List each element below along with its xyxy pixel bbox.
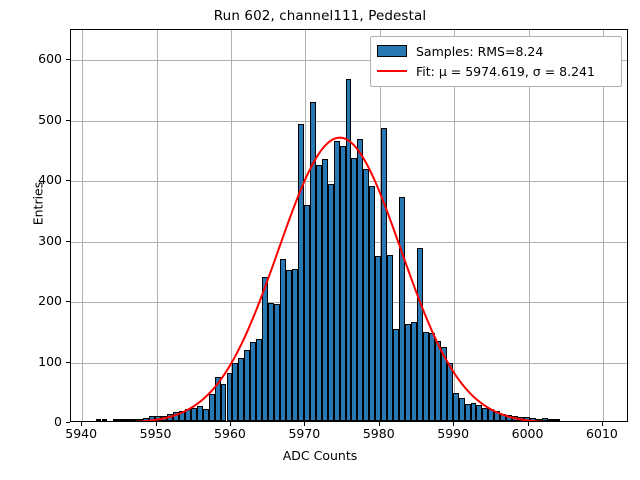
legend-item-fit: Fit: μ = 5974.619, σ = 8.241	[377, 61, 615, 81]
x-tick-label: 5980	[349, 426, 409, 441]
y-tick-mark	[66, 120, 70, 121]
histogram-figure: Run 602, channel111, Pedestal 5940595059…	[0, 0, 640, 480]
legend: Samples: RMS=8.24 Fit: μ = 5974.619, σ =…	[370, 36, 622, 87]
legend-label-samples: Samples: RMS=8.24	[416, 44, 543, 59]
x-axis-label: ADC Counts	[0, 448, 640, 463]
x-tick-label: 5990	[423, 426, 483, 441]
y-tick-label: 200	[12, 293, 62, 308]
x-tick-label: 5950	[126, 426, 186, 441]
y-tick-mark	[66, 180, 70, 181]
fit-curve	[71, 30, 627, 421]
plot-area	[70, 29, 628, 422]
y-tick-label: 500	[12, 112, 62, 127]
y-tick-label: 0	[12, 414, 62, 429]
page-title: Run 602, channel111, Pedestal	[0, 8, 640, 24]
y-tick-mark	[66, 59, 70, 60]
line-swatch-icon	[377, 70, 407, 72]
x-tick-label: 5970	[274, 426, 334, 441]
y-tick-mark	[66, 241, 70, 242]
x-tick-label: 5960	[200, 426, 260, 441]
y-tick-label: 600	[12, 51, 62, 66]
y-tick-mark	[66, 422, 70, 423]
y-tick-mark	[66, 301, 70, 302]
bar-swatch-icon	[377, 45, 407, 57]
y-axis-label: Entries	[31, 144, 46, 264]
x-tick-label: 6010	[572, 426, 632, 441]
x-tick-label: 6000	[498, 426, 558, 441]
legend-label-fit: Fit: μ = 5974.619, σ = 8.241	[416, 64, 595, 79]
legend-item-samples: Samples: RMS=8.24	[377, 41, 615, 61]
y-tick-label: 100	[12, 354, 62, 369]
y-tick-mark	[66, 362, 70, 363]
